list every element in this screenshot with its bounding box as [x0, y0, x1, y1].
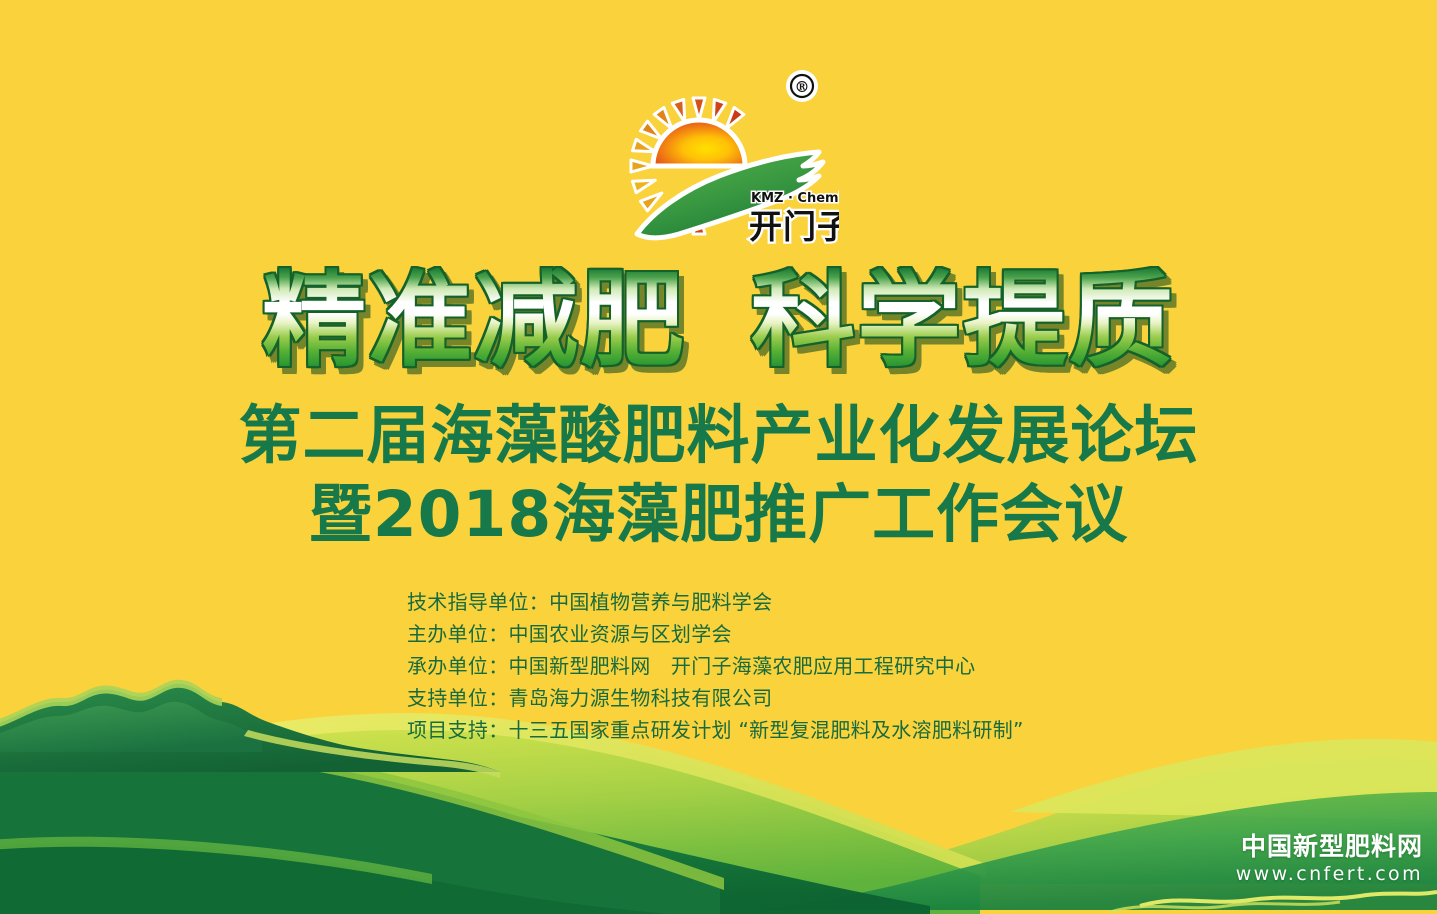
- registered-mark-icon: ®: [786, 70, 818, 102]
- watermark-site-name: 中国新型肥料网: [1236, 832, 1423, 862]
- organizer-info-block: 技术指导单位：中国植物营养与肥料学会 主办单位：中国农业资源与区划学会 承办单位…: [407, 586, 1167, 746]
- info-line-technical-guidance: 技术指导单位：中国植物营养与肥料学会: [407, 586, 1167, 618]
- headline-part-1: 精准减肥: [262, 268, 686, 372]
- subtitle-line-2: 暨2018海藻肥推广工作会议: [0, 483, 1437, 546]
- info-line-organizer: 承办单位：中国新型肥料网 开门子海藻农肥应用工程研究中心: [407, 650, 1167, 682]
- info-line-host: 主办单位：中国农业资源与区划学会: [407, 618, 1167, 650]
- sun-icon: [653, 120, 745, 166]
- subtitle-line-1: 第二届海藻酸肥料产业化发展论坛: [0, 404, 1437, 467]
- svg-text:®: ®: [795, 78, 810, 96]
- brand-latin-text: KMZ · Chemical: [751, 191, 839, 206]
- watermark-url: www.cnfert.com: [1236, 862, 1423, 886]
- poster-canvas: ® KMZ · Chemical 开门子 精准减肥 科学提质 第二届海藻酸肥料产…: [0, 0, 1437, 914]
- headline-part-2: 科学提质: [751, 268, 1175, 372]
- site-watermark: 中国新型肥料网 www.cnfert.com: [1236, 832, 1423, 886]
- kaimenzi-logo-icon: ® KMZ · Chemical 开门子: [623, 62, 839, 248]
- info-line-project-support: 项目支持：十三五国家重点研发计划 “新型复混肥料及水溶肥料研制”: [407, 714, 1167, 746]
- headline: 精准减肥 科学提质: [0, 268, 1437, 372]
- info-line-supporter: 支持单位：青岛海力源生物科技有限公司: [407, 682, 1167, 714]
- brand-cn-text: 开门子: [749, 207, 839, 246]
- logo-block: ® KMZ · Chemical 开门子: [623, 62, 839, 248]
